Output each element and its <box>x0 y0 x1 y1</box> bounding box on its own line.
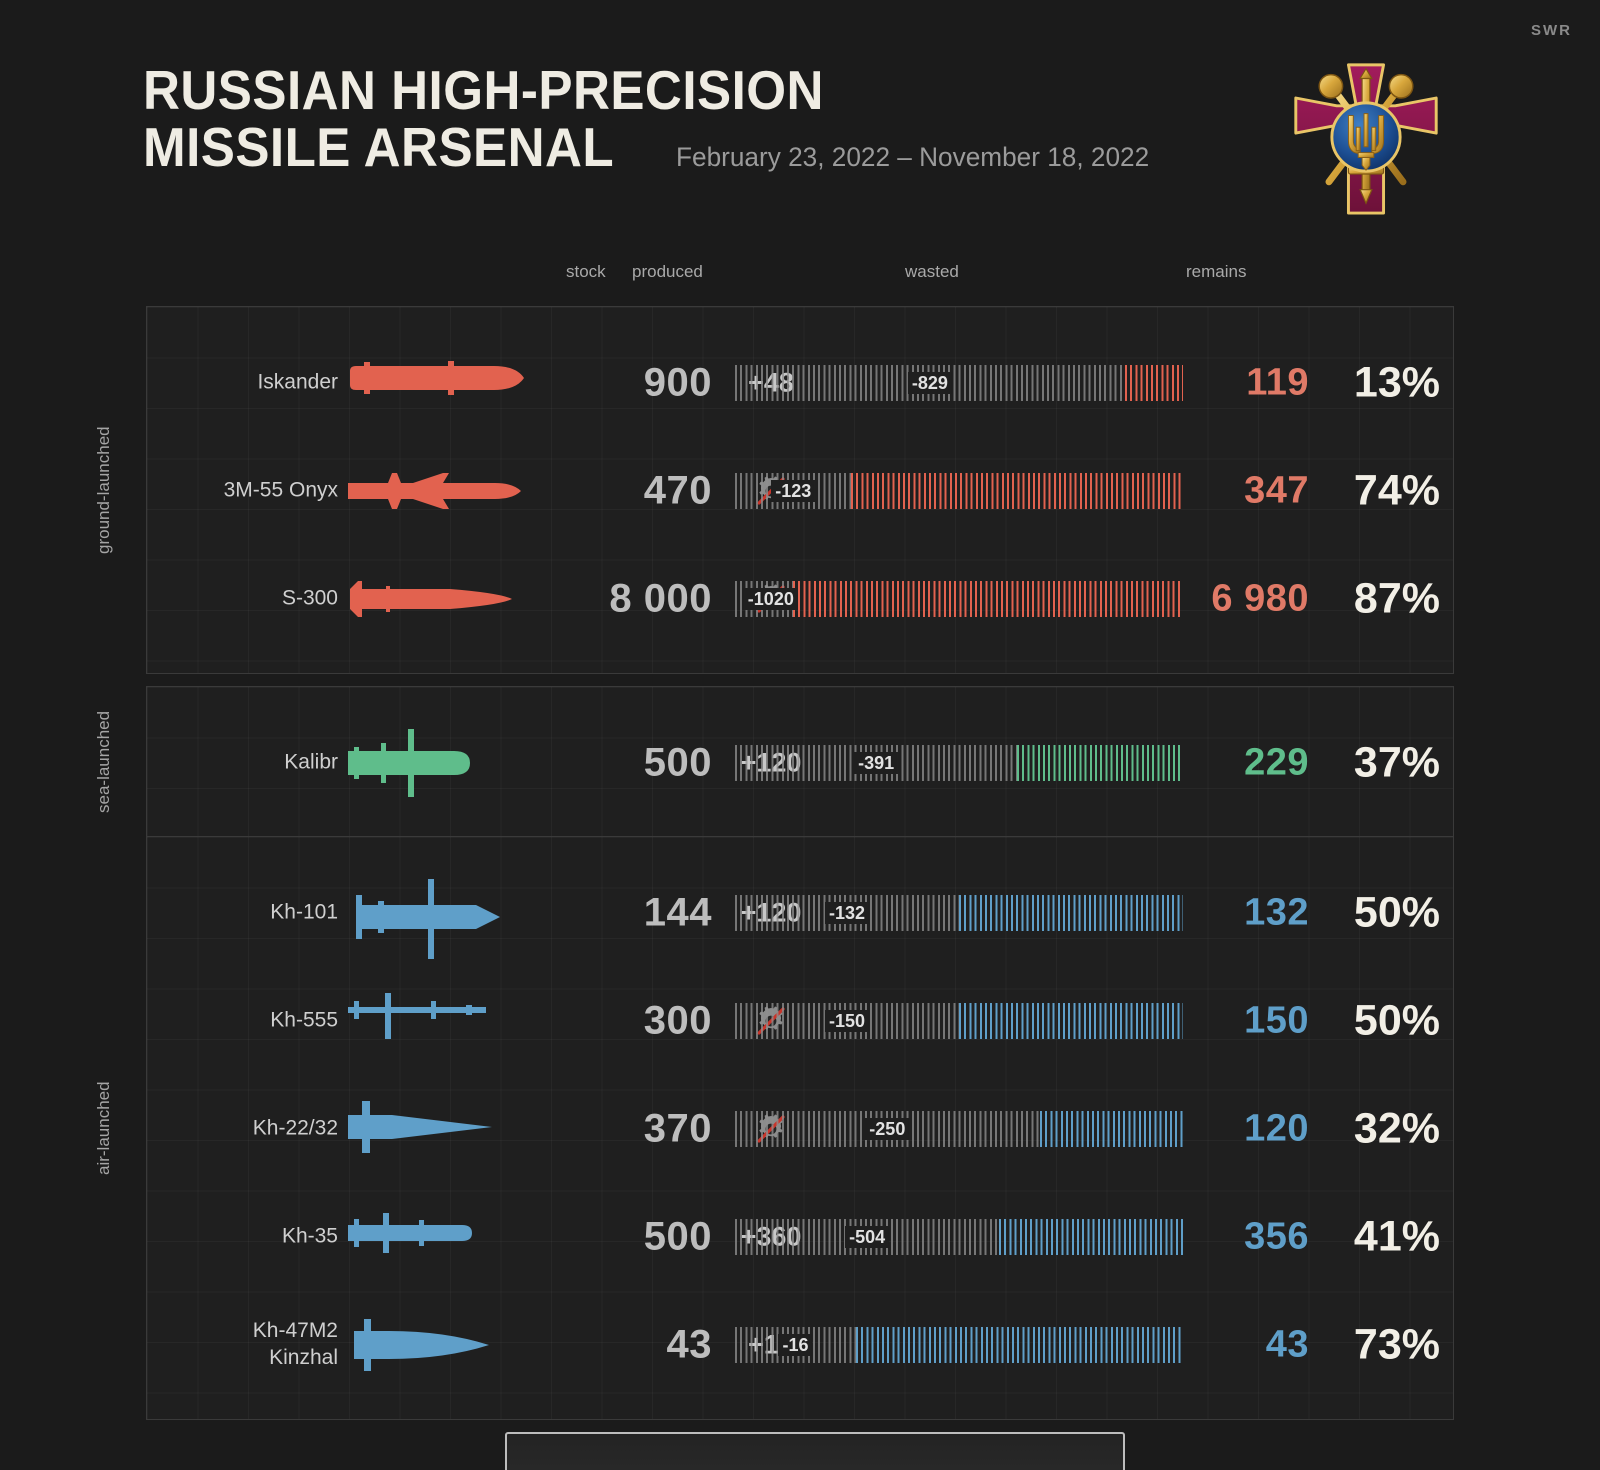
table-row[interactable]: Kh-35500+360-50435641% <box>147 1183 1453 1291</box>
column-header-produced: produced <box>632 262 703 282</box>
missile-silhouette-icon <box>342 1083 532 1175</box>
missile-name: Kh-22/32 <box>253 1116 338 1143</box>
panel-sea-launched: Kalibr500+120-39122937% <box>146 686 1454 838</box>
missile-silhouette-icon <box>342 717 532 809</box>
missile-silhouette-icon <box>342 445 532 537</box>
category-label-ground-launched: ground-launched <box>84 306 124 674</box>
missile-name: Kalibr <box>284 750 338 777</box>
wasted-value: -829 <box>908 372 952 394</box>
wasted-value: -123 <box>771 480 815 502</box>
wasted-remains-bar: -123 <box>735 473 1183 509</box>
bar-segment-remains <box>793 581 1183 617</box>
missile-name: Kh-101 <box>270 900 338 927</box>
percent-remaining: 13% <box>1322 359 1440 408</box>
bar-segment-remains <box>999 1219 1183 1255</box>
table-row[interactable]: Kh-47M2Kinzhal43+16-164373% <box>147 1291 1453 1399</box>
stock-value: 500 <box>527 741 712 786</box>
table-row[interactable]: 3M-55 Onyx470-12334774% <box>147 437 1453 545</box>
table-row[interactable]: S-3008 000-10206 98087% <box>147 545 1453 653</box>
bar-segment-remains <box>1125 365 1183 401</box>
bottom-panel <box>505 1432 1125 1470</box>
wasted-remains-bar: -504 <box>735 1219 1183 1255</box>
remains-value: 356 <box>1191 1216 1309 1259</box>
remains-value: 120 <box>1191 1108 1309 1151</box>
missile-silhouette-icon <box>342 553 532 645</box>
stock-value: 8 000 <box>527 577 712 622</box>
stock-value: 370 <box>527 1107 712 1152</box>
percent-remaining: 37% <box>1322 739 1440 788</box>
wasted-remains-bar: -132 <box>735 895 1183 931</box>
swr-watermark: SWR <box>1531 22 1572 39</box>
ukraine-general-staff-emblem-icon <box>1288 57 1444 217</box>
wasted-remains-bar: -250 <box>735 1111 1183 1147</box>
bar-segment-remains <box>1040 1111 1183 1147</box>
stock-value: 900 <box>527 361 712 406</box>
column-header-stock: stock <box>566 262 606 282</box>
bar-segment-remains <box>856 1327 1183 1363</box>
missile-silhouette-icon <box>342 1299 532 1391</box>
category-label-air-launched: air-launched <box>84 836 124 1420</box>
bar-segment-remains <box>959 895 1183 931</box>
remains-value: 150 <box>1191 1000 1309 1043</box>
bar-segment-remains <box>1017 745 1183 781</box>
bar-segment-remains <box>851 473 1183 509</box>
stock-value: 144 <box>527 891 712 936</box>
panel-ground-launched: Iskander900+48-82911913%3M-55 Onyx470-12… <box>146 306 1454 674</box>
column-headers: stock produced wasted remains <box>0 262 1600 288</box>
date-range: February 23, 2022 – November 18, 2022 <box>676 142 1149 173</box>
bar-segment-remains <box>959 1003 1183 1039</box>
missile-name: 3M-55 Onyx <box>224 478 338 505</box>
category-label-sea-launched: sea-launched <box>84 686 124 838</box>
percent-remaining: 50% <box>1322 997 1440 1046</box>
column-header-wasted: wasted <box>905 262 959 282</box>
missile-name: Kh-35 <box>282 1224 338 1251</box>
wasted-remains-bar: -829 <box>735 365 1183 401</box>
wasted-value: -150 <box>825 1010 869 1032</box>
wasted-value: -132 <box>825 902 869 924</box>
missile-silhouette-icon <box>342 1191 532 1283</box>
infographic-root: SWR RUSSIAN HIGH-PRECISION MISSILE ARSEN… <box>0 0 1600 1470</box>
remains-value: 347 <box>1191 470 1309 513</box>
remains-value: 229 <box>1191 742 1309 785</box>
wasted-remains-bar: -1020 <box>735 581 1183 617</box>
percent-remaining: 41% <box>1322 1213 1440 1262</box>
wasted-remains-bar: -391 <box>735 745 1183 781</box>
percent-remaining: 73% <box>1322 1321 1440 1370</box>
page-title-row2: MISSILE ARSENAL February 23, 2022 – Nove… <box>143 119 1163 176</box>
remains-value: 6 980 <box>1191 578 1309 621</box>
stock-value: 300 <box>527 999 712 1044</box>
missile-name: Iskander <box>257 370 338 397</box>
column-header-remains: remains <box>1186 262 1246 282</box>
remains-value: 43 <box>1191 1324 1309 1367</box>
table-row[interactable]: Kh-555300-15015050% <box>147 967 1453 1075</box>
missile-silhouette-icon <box>342 337 532 429</box>
missile-silhouette-icon <box>342 975 532 1067</box>
percent-remaining: 32% <box>1322 1105 1440 1154</box>
missile-name: S-300 <box>282 586 338 613</box>
stock-value: 43 <box>527 1323 712 1368</box>
missile-name: Kh-47M2Kinzhal <box>253 1318 338 1372</box>
percent-remaining: 74% <box>1322 467 1440 516</box>
stock-value: 470 <box>527 469 712 514</box>
wasted-value: -391 <box>854 752 898 774</box>
table-row[interactable]: Kh-101144+120-13213250% <box>147 859 1453 967</box>
table-row[interactable]: Kalibr500+120-39122937% <box>147 709 1453 817</box>
wasted-remains-bar: -16 <box>735 1327 1183 1363</box>
page-title-line2: MISSILE ARSENAL <box>143 119 614 176</box>
remains-value: 119 <box>1191 362 1309 405</box>
wasted-value: -16 <box>778 1334 812 1356</box>
wasted-value: -250 <box>865 1118 909 1140</box>
table-row[interactable]: Kh-22/32370-25012032% <box>147 1075 1453 1183</box>
page-title-line1: RUSSIAN HIGH-PRECISION <box>143 62 1092 119</box>
panel-air-launched: Kh-101144+120-13213250%Kh-555300-1501505… <box>146 836 1454 1420</box>
remains-value: 132 <box>1191 892 1309 935</box>
missile-silhouette-icon <box>342 867 532 959</box>
percent-remaining: 87% <box>1322 575 1440 624</box>
page-header: RUSSIAN HIGH-PRECISION MISSILE ARSENAL F… <box>143 62 1163 176</box>
missile-name: Kh-555 <box>270 1008 338 1035</box>
wasted-remains-bar: -150 <box>735 1003 1183 1039</box>
wasted-value: -1020 <box>744 588 798 610</box>
wasted-value: -504 <box>845 1226 889 1248</box>
stock-value: 500 <box>527 1215 712 1260</box>
percent-remaining: 50% <box>1322 889 1440 938</box>
table-row[interactable]: Iskander900+48-82911913% <box>147 329 1453 437</box>
